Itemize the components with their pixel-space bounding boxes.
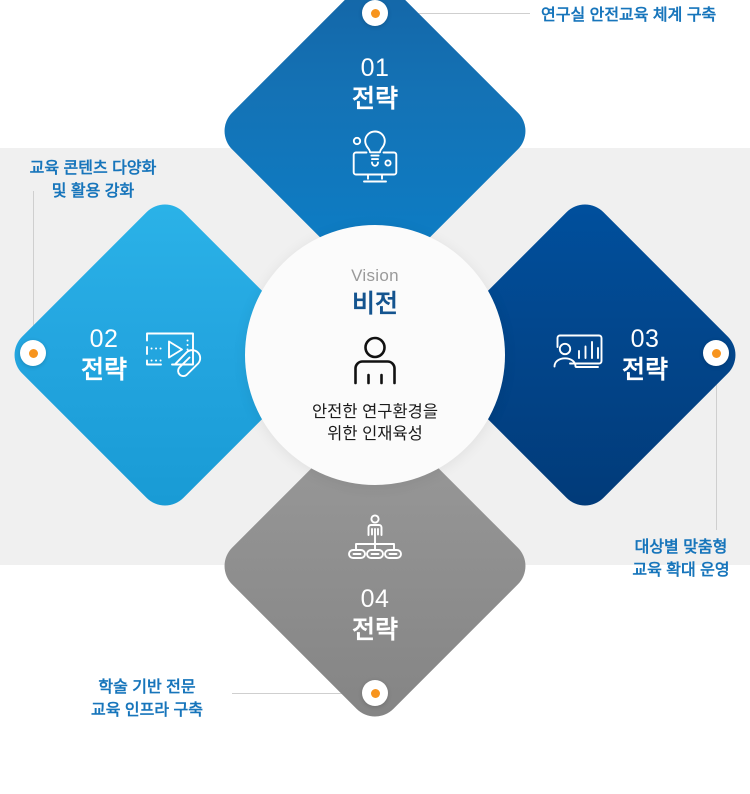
strategy-03-number: 03 xyxy=(631,324,660,354)
callout-label-02: 교육 콘텐츠 다양화 및 활용 강화 xyxy=(18,157,168,203)
callout-label-01: 연구실 안전교육 체계 구축 xyxy=(541,4,716,27)
callout-03-line1: 대상별 맞춤형 xyxy=(627,536,735,559)
callout-04-line1: 학술 기반 전문 xyxy=(88,676,206,699)
video-attachment-icon xyxy=(139,326,205,385)
vision-description-line2: 위한 인재육성 xyxy=(312,423,438,445)
strategy-03-label: 전략 xyxy=(622,354,668,386)
callout-01-line1: 연구실 안전교육 체계 구축 xyxy=(541,4,716,27)
vision-korean-label: 비전 xyxy=(352,288,398,320)
strategy-04-content: 04 전략 xyxy=(261,452,489,680)
callout-label-04: 학술 기반 전문 교육 인프라 구축 xyxy=(88,676,206,722)
callout-02-line2: 및 활용 강화 xyxy=(18,180,168,203)
strategy-02-label: 전략 xyxy=(81,354,127,386)
dot-core xyxy=(371,689,380,698)
callout-02-line1: 교육 콘텐츠 다양화 xyxy=(18,157,168,180)
strategy-04-label: 전략 xyxy=(352,614,398,646)
presentation-chart-person-icon xyxy=(546,327,610,384)
vision-english-label: Vision xyxy=(351,265,399,287)
org-chart-person-icon xyxy=(346,513,404,568)
strategy-01-content: 01 전략 xyxy=(261,17,489,245)
connector-line-left xyxy=(33,191,34,341)
callout-04-line2: 교육 인프라 구축 xyxy=(88,699,206,722)
strategy-04-number: 04 xyxy=(361,584,390,614)
callout-03-line2: 교육 확대 운영 xyxy=(627,559,735,582)
connector-dot-top[interactable] xyxy=(362,0,388,26)
dot-core xyxy=(29,349,38,358)
vision-center-circle[interactable]: Vision 비전 안전한 연구환경을 위한 인재육성 xyxy=(245,225,505,485)
callout-label-03: 대상별 맞춤형 교육 확대 운영 xyxy=(627,536,735,582)
strategy-01-label: 전략 xyxy=(352,83,398,115)
vision-description-line1: 안전한 연구환경을 xyxy=(312,401,438,423)
connector-dot-right[interactable] xyxy=(703,340,729,366)
connector-line-right xyxy=(716,366,717,530)
person-icon xyxy=(347,334,403,395)
connector-dot-bottom[interactable] xyxy=(362,680,388,706)
connector-dot-left[interactable] xyxy=(20,340,46,366)
infographic-canvas: 01 전략 02 전략 xyxy=(0,0,750,720)
dot-core xyxy=(712,349,721,358)
dot-core xyxy=(371,9,380,18)
strategy-03-content: 03 전략 xyxy=(471,241,699,469)
strategy-02-number: 02 xyxy=(90,324,119,354)
monitor-lightbulb-icon xyxy=(344,129,406,190)
strategy-01-number: 01 xyxy=(361,53,390,83)
